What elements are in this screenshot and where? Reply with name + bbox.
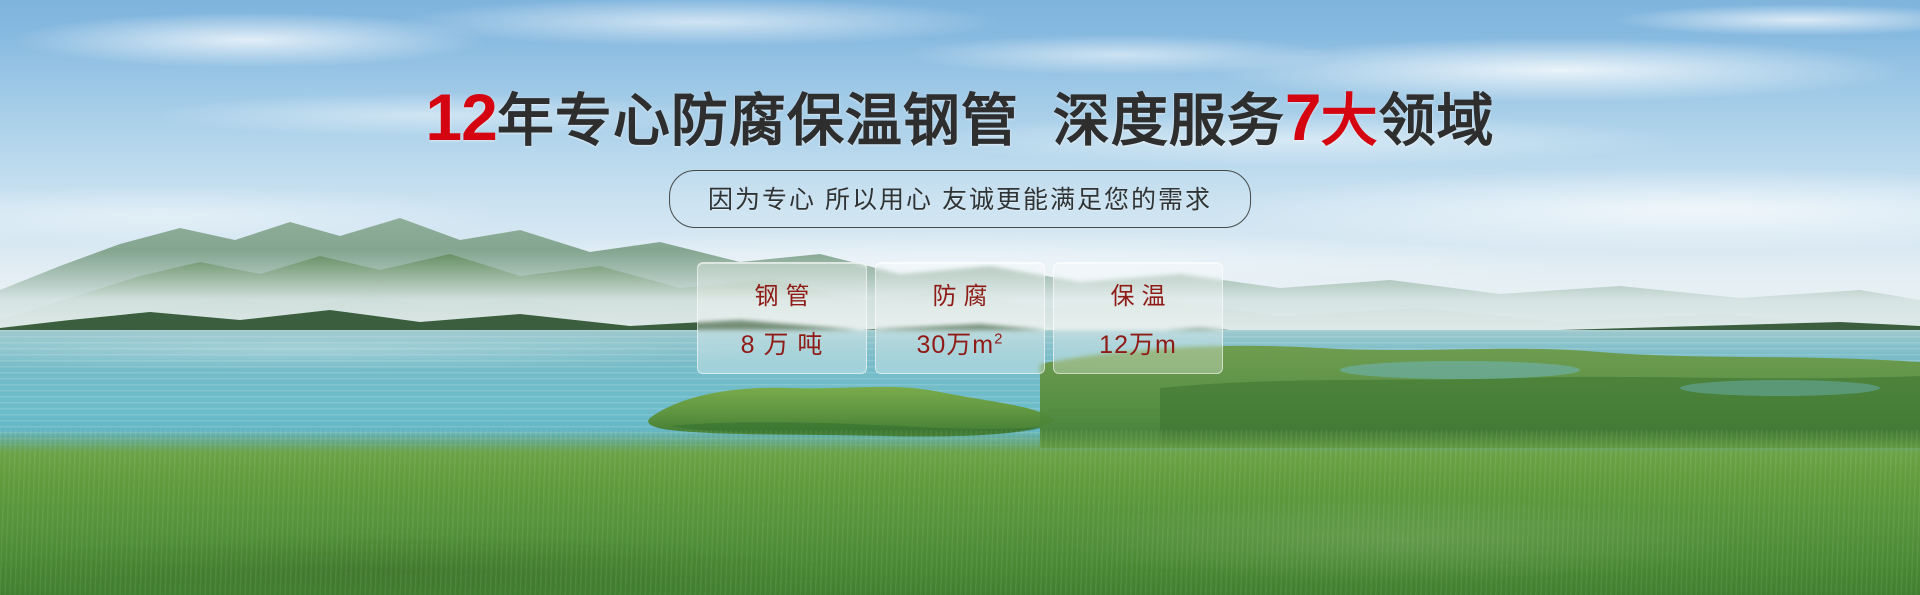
stat-card-anticorrosion[interactable]: 防腐 30万m2 (875, 262, 1045, 374)
stat-card-insulation[interactable]: 保温 12万m (1053, 262, 1223, 374)
headline-fields-number: 7 (1285, 80, 1321, 154)
stat-card-label: 钢管 (748, 276, 817, 311)
headline-part-three: 领域 (1379, 89, 1495, 153)
stat-card-steel-pipe[interactable]: 钢管 8 万 吨 (697, 262, 867, 374)
stats-card-group: 钢管 8 万 吨 防腐 30万m2 保温 12万m (697, 262, 1223, 374)
stat-card-value: 8 万 吨 (741, 325, 824, 361)
stat-value-superscript: 2 (994, 330, 1003, 347)
stat-value-text: 8 万 吨 (741, 331, 824, 359)
headline-years-number: 12 (425, 80, 496, 154)
stat-value-text: 12万m (1099, 331, 1177, 359)
headline-part-two: 深度服务 (1053, 89, 1285, 153)
stat-card-value: 30万m2 (917, 325, 1004, 361)
stat-card-label: 保温 (1104, 276, 1173, 311)
headline-part-one: 年专心防腐保温钢管 (497, 89, 1019, 153)
stat-card-label: 防腐 (926, 276, 995, 311)
foreground-grass (0, 430, 1920, 595)
hero-banner: 12年专心防腐保温钢管深度服务7大领域 因为专心 所以用心 友诚更能满足您的需求… (0, 0, 1920, 595)
stat-value-text: 30万m (917, 331, 995, 359)
page-title: 12年专心防腐保温钢管深度服务7大领域 (0, 84, 1920, 150)
headline-fields-unit: 大 (1321, 89, 1379, 153)
subtitle-pill: 因为专心 所以用心 友诚更能满足您的需求 (669, 170, 1251, 228)
stat-card-value: 12万m (1099, 325, 1177, 361)
